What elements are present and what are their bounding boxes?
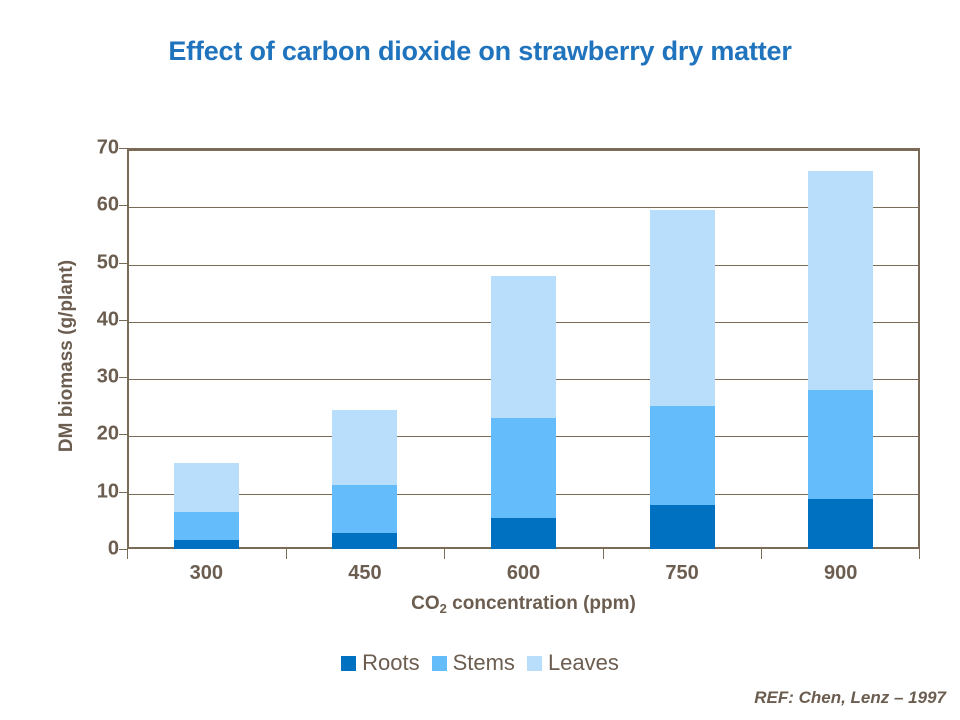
plot-area <box>127 148 920 549</box>
x-tick-label: 900 <box>761 562 921 585</box>
legend-label: Stems <box>453 650 515 676</box>
legend-item-stems[interactable]: Stems <box>432 650 515 676</box>
x-tick-mark <box>919 549 920 559</box>
x-axis-title-subscript: 2 <box>440 601 447 616</box>
x-tick-label: 600 <box>444 562 604 585</box>
chart-figure: Effect of carbon dioxide on strawberry d… <box>0 0 960 720</box>
x-tick-mark <box>127 549 128 559</box>
x-tick-mark <box>286 549 287 559</box>
y-tick-label: 0 <box>59 538 119 561</box>
y-tick-label: 30 <box>59 366 119 389</box>
gridline <box>129 379 918 380</box>
y-tick-mark <box>119 549 127 550</box>
y-tick-label: 70 <box>59 137 119 160</box>
y-axis-tick-labels: 010203040506070 <box>55 148 119 549</box>
y-tick-label: 50 <box>59 251 119 274</box>
x-axis-tick-marks <box>127 549 920 561</box>
gridline <box>129 322 918 323</box>
legend-swatch-icon <box>432 656 447 671</box>
y-tick-label: 20 <box>59 423 119 446</box>
x-tick-label: 300 <box>126 562 286 585</box>
x-tick-mark <box>603 549 604 559</box>
y-tick-mark <box>119 148 127 149</box>
legend-item-leaves[interactable]: Leaves <box>527 650 619 676</box>
y-tick-mark <box>119 205 127 206</box>
gridline <box>129 436 918 437</box>
y-tick-mark <box>119 263 127 264</box>
gridline <box>129 207 918 208</box>
x-tick-label: 450 <box>285 562 445 585</box>
y-tick-mark <box>119 492 127 493</box>
x-axis-title: CO2 concentration (ppm) <box>127 593 920 615</box>
chart-legend: RootsStemsLeaves <box>0 650 960 676</box>
legend-swatch-icon <box>341 656 356 671</box>
legend-label: Leaves <box>548 650 619 676</box>
legend-swatch-icon <box>527 656 542 671</box>
y-tick-label: 10 <box>59 480 119 503</box>
y-tick-label: 60 <box>59 194 119 217</box>
y-tick-mark <box>119 320 127 321</box>
gridline <box>129 494 918 495</box>
legend-label: Roots <box>362 650 419 676</box>
x-tick-mark <box>761 549 762 559</box>
x-tick-mark <box>444 549 445 559</box>
y-tick-label: 40 <box>59 308 119 331</box>
y-tick-mark <box>119 434 127 435</box>
legend-item-roots[interactable]: Roots <box>341 650 419 676</box>
gridline <box>129 150 918 151</box>
chart-title: Effect of carbon dioxide on strawberry d… <box>0 36 960 67</box>
x-axis-title-pre: CO <box>411 593 440 614</box>
reference-note: REF: Chen, Lenz – 1997 <box>754 688 946 708</box>
x-tick-label: 750 <box>602 562 762 585</box>
x-axis-title-post: concentration (ppm) <box>447 593 636 614</box>
y-tick-mark <box>119 377 127 378</box>
gridline <box>129 265 918 266</box>
